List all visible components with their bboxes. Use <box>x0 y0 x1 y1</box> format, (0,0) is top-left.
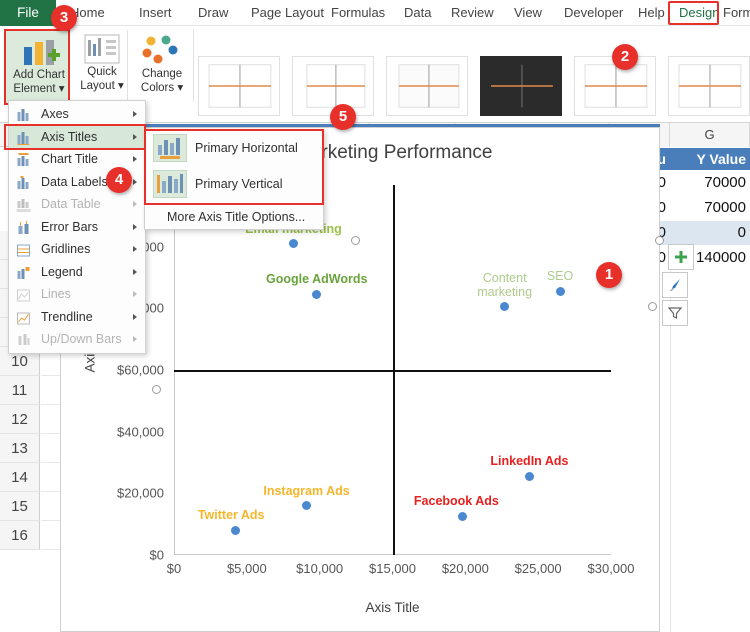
change-colors-icon <box>142 34 182 66</box>
primary-horizontal-glyph <box>154 135 186 161</box>
chart-style-thumb-6[interactable] <box>668 56 750 116</box>
menu-item-label: Axis Titles <box>41 130 97 144</box>
tab-file[interactable]: File <box>0 0 56 26</box>
row-header-16[interactable]: 16 <box>0 521 40 550</box>
menu-item-label: Trendline <box>41 310 93 324</box>
row-header-11[interactable]: 11 <box>0 376 40 405</box>
menu-item-trendline[interactable]: Trendline <box>9 306 145 329</box>
data-label-content-marketing[interactable]: Content marketing <box>470 271 540 299</box>
chevron-right-icon <box>133 111 137 117</box>
chart-style-thumb-1[interactable] <box>198 56 280 116</box>
quick-layout-label: Quick Layout ▾ <box>72 66 132 93</box>
menu-item-icon <box>16 107 31 121</box>
callout-badge-1: 1 <box>596 262 622 288</box>
add-chart-element-menu[interactable]: AxesAxis TitlesChart TitleData LabelsDat… <box>8 100 146 354</box>
cell-G-row1[interactable]: 70000 <box>670 171 750 195</box>
primary-horizontal-label: Primary Horizontal <box>195 141 298 155</box>
submenu-item-more-axis-title-options[interactable]: More Axis Title Options... <box>145 205 323 229</box>
menu-item-icon <box>16 332 31 346</box>
menu-item-icon <box>16 242 31 256</box>
data-point-twitter-ads[interactable] <box>231 526 240 535</box>
data-point-content-marketing[interactable] <box>500 302 509 311</box>
x-axis-title[interactable]: Axis Title <box>174 600 611 615</box>
callout-badge-2: 2 <box>612 44 638 70</box>
cc-line2: Colors ▾ <box>141 82 183 94</box>
y-tick-3: $60,000 <box>117 363 164 378</box>
chart-style-thumb-4-selected[interactable] <box>480 56 562 116</box>
ribbon-separator-1 <box>127 30 128 102</box>
chevron-right-icon <box>133 224 137 230</box>
chevron-right-icon <box>133 336 137 342</box>
menu-item-label: Data Table <box>41 197 101 211</box>
menu-item-icon <box>16 265 31 279</box>
chart-selection-top-border <box>60 124 660 127</box>
thumb-scatter-4 <box>481 57 561 115</box>
data-point-google-adwords[interactable] <box>312 290 321 299</box>
chevron-right-icon <box>133 269 137 275</box>
tab-page-layout[interactable]: Page Layout <box>245 0 330 26</box>
menu-item-up-down-bars: Up/Down Bars <box>9 328 145 351</box>
primary-vertical-glyph <box>154 171 186 197</box>
add-chart-element-button[interactable]: Add Chart Element ▾ <box>4 29 70 105</box>
thumb-scatter-1 <box>199 57 279 115</box>
menu-item-chart-title[interactable]: Chart Title <box>9 148 145 171</box>
data-point-facebook-ads[interactable] <box>458 512 467 521</box>
cell-G-row3[interactable]: 0 <box>670 221 750 245</box>
row-header-14[interactable]: 14 <box>0 463 40 492</box>
menu-item-axes[interactable]: Axes <box>9 103 145 126</box>
chevron-right-icon <box>133 291 137 297</box>
row-header-13[interactable]: 13 <box>0 434 40 463</box>
submenu-item-primary-horizontal[interactable]: Primary Horizontal <box>145 130 323 166</box>
data-point-instagram-ads[interactable] <box>302 501 311 510</box>
menu-item-gridlines[interactable]: Gridlines <box>9 238 145 261</box>
quick-layout-icon <box>84 34 120 64</box>
y-tick-1: $20,000 <box>117 486 164 501</box>
menu-item-error-bars[interactable]: Error Bars <box>9 216 145 239</box>
menu-item-icon <box>16 130 31 144</box>
add-chart-element-label: Add Chart Element ▾ <box>6 69 72 96</box>
x-tick-4: $20,000 <box>442 561 489 576</box>
menu-item-label: Data Labels <box>41 175 108 189</box>
chevron-right-icon <box>133 246 137 252</box>
tab-help[interactable]: Help <box>632 0 671 26</box>
chart-filter-funnel-button[interactable] <box>662 300 688 326</box>
callout-badge-5: 5 <box>330 104 356 130</box>
tab-review[interactable]: Review <box>445 0 500 26</box>
chart-elements-plus-button[interactable] <box>668 244 694 270</box>
tab-format[interactable]: Format <box>717 0 750 26</box>
tab-draw[interactable]: Draw <box>192 0 234 26</box>
chevron-right-icon <box>133 314 137 320</box>
menu-item-icon <box>16 220 31 234</box>
change-colors-label: Change Colors ▾ <box>130 68 194 95</box>
menu-item-icon <box>16 152 31 166</box>
column-header-G[interactable]: G <box>670 123 750 147</box>
cc-line1: Change <box>142 68 182 80</box>
x-tick-1: $5,000 <box>227 561 267 576</box>
ql-line2: Layout ▾ <box>80 80 124 92</box>
chevron-right-icon <box>133 201 137 207</box>
chevron-right-icon <box>133 179 137 185</box>
data-label-facebook-ads[interactable]: Facebook Ads <box>414 494 499 508</box>
excel-window: File Home Insert Draw Page Layout Formul… <box>0 0 750 632</box>
ribbon-tab-bar: File Home Insert Draw Page Layout Formul… <box>0 0 750 26</box>
x-tick-6: $30,000 <box>588 561 635 576</box>
plus-icon <box>673 249 689 265</box>
data-point-linkedin-ads[interactable] <box>525 472 534 481</box>
primary-vertical-label: Primary Vertical <box>195 177 283 191</box>
chart-styles-gallery[interactable] <box>198 52 750 124</box>
menu-item-legend[interactable]: Legend <box>9 261 145 284</box>
menu-item-icon <box>16 310 31 324</box>
data-label-twitter-ads[interactable]: Twitter Ads <box>198 508 265 522</box>
menu-item-label: Legend <box>41 265 83 279</box>
tab-data[interactable]: Data <box>398 0 437 26</box>
tab-formulas[interactable]: Formulas <box>325 0 391 26</box>
chart-handle-right[interactable] <box>648 302 657 311</box>
chevron-right-icon <box>133 156 137 162</box>
x-tick-5: $25,000 <box>515 561 562 576</box>
cell-G-header-y-value[interactable]: Y Value <box>670 148 750 170</box>
add-chart-element-icon <box>22 39 62 67</box>
data-label-linkedin-ads[interactable]: LinkedIn Ads <box>490 454 568 468</box>
ace-line1: Add Chart <box>13 69 65 81</box>
menu-item-label: Gridlines <box>41 242 90 256</box>
chart-style-thumb-3[interactable] <box>386 56 468 116</box>
callout-badge-3: 3 <box>51 5 77 31</box>
data-label-google-adwords[interactable]: Google AdWords <box>266 272 367 286</box>
menu-item-icon <box>16 197 31 211</box>
row-header-12[interactable]: 12 <box>0 405 40 434</box>
chevron-right-icon <box>133 134 137 140</box>
primary-vertical-icon <box>153 170 187 198</box>
ribbon-separator-2 <box>193 30 194 102</box>
brush-icon <box>667 277 683 293</box>
thumb-scatter-3 <box>387 57 467 115</box>
menu-item-label: Error Bars <box>41 220 98 234</box>
primary-horizontal-icon <box>153 134 187 162</box>
x-tick-2: $10,000 <box>296 561 343 576</box>
y-tick-0: $0 <box>150 548 164 563</box>
axis-titles-submenu[interactable]: Primary Horizontal Primary Vertical More… <box>144 129 324 230</box>
data-label-instagram-ads[interactable]: Instagram Ads <box>263 484 349 498</box>
menu-item-label: Chart Title <box>41 152 98 166</box>
chart-handle-top[interactable] <box>351 236 360 245</box>
menu-item-label: Axes <box>41 107 69 121</box>
thumb-scatter-2 <box>293 57 373 115</box>
menu-item-label: Lines <box>41 287 71 301</box>
x-tick-3: $15,000 <box>369 561 416 576</box>
menu-item-lines: Lines <box>9 283 145 306</box>
menu-item-axis-titles[interactable]: Axis Titles <box>9 126 145 149</box>
callout-badge-4: 4 <box>106 167 132 193</box>
menu-item-icon <box>16 175 31 189</box>
data-point-email-marketing[interactable] <box>289 239 298 248</box>
tab-insert[interactable]: Insert <box>133 0 178 26</box>
data-label-seo[interactable]: SEO <box>547 269 573 283</box>
menu-item-label: Up/Down Bars <box>41 332 122 346</box>
tab-view[interactable]: View <box>508 0 548 26</box>
tab-developer[interactable]: Developer <box>558 0 629 26</box>
chart-plot-area[interactable]: Email marketingGoogle AdWordsContent mar… <box>174 185 611 555</box>
funnel-icon <box>667 305 683 321</box>
y-tick-2: $40,000 <box>117 424 164 439</box>
data-point-seo[interactable] <box>556 287 565 296</box>
chart-handle-left[interactable] <box>152 385 161 394</box>
x-tick-0: $0 <box>167 561 181 576</box>
menu-item-icon <box>16 287 31 301</box>
quadrant-horizontal-line <box>174 370 611 372</box>
ql-line1: Quick <box>87 66 116 78</box>
cell-G-row2[interactable]: 70000 <box>670 196 750 220</box>
menu-item-data-table: Data Table <box>9 193 145 216</box>
submenu-divider <box>151 203 317 204</box>
design-tab-highlight <box>668 1 719 25</box>
chart-styles-brush-button[interactable] <box>662 272 688 298</box>
row-header-15[interactable]: 15 <box>0 492 40 521</box>
thumb-scatter-6 <box>669 57 749 115</box>
chart-handle-top-right[interactable] <box>655 236 664 245</box>
ace-line2: Element ▾ <box>13 83 64 95</box>
submenu-item-primary-vertical[interactable]: Primary Vertical <box>145 166 323 202</box>
